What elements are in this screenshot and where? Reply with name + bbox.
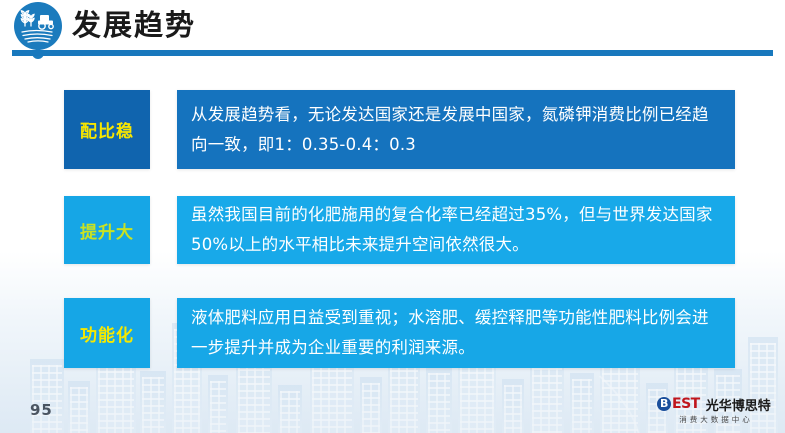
- brand-subtitle: 消费大数据中心: [657, 414, 775, 425]
- trend-text-1: 从发展趋势看，无论发达国家还是发展中国家，氮磷钾消费比例已经趋向一致，即1：0.…: [191, 100, 721, 160]
- page-number: 95: [30, 401, 53, 419]
- trend-text-3: 液体肥料应用日益受到重视；水溶肥、缓控释肥等功能性肥料比例会进一步提升并成为企业…: [191, 303, 721, 363]
- header-divider: [12, 50, 773, 56]
- trend-label-3[interactable]: 功能化: [64, 298, 150, 368]
- slide-canvas: 发展趋势 配比稳 从发展趋势看，无论发达国家还是发展中国家，氮磷钾消费比例已经趋…: [0, 0, 785, 433]
- trend-text-box-3: 液体肥料应用日益受到重视；水溶肥、缓控释肥等功能性肥料比例会进一步提升并成为企业…: [177, 298, 735, 368]
- page-title: 发展趋势: [72, 6, 196, 44]
- trend-text-2: 虽然我国目前的化肥施用的复合化率已经超过35%，但与世界发达国家50%以上的水平…: [191, 200, 721, 260]
- brand-mark: BEST: [657, 397, 700, 411]
- trend-text-box-1: 从发展趋势看，无论发达国家还是发展中国家，氮磷钾消费比例已经趋向一致，即1：0.…: [177, 90, 735, 169]
- brand-logo: BEST 光华博思特 消费大数据中心: [657, 395, 777, 425]
- brand-mark-rest: EST: [672, 397, 700, 411]
- trend-label-1[interactable]: 配比稳: [64, 90, 150, 169]
- trend-label-2[interactable]: 提升大: [64, 196, 150, 264]
- brand-name-cn: 光华博思特: [706, 395, 771, 414]
- brand-mark-letter: B: [657, 397, 671, 411]
- trend-text-box-2: 虽然我国目前的化肥施用的复合化率已经超过35%，但与世界发达国家50%以上的水平…: [177, 196, 735, 264]
- slide-header: 发展趋势: [0, 0, 785, 58]
